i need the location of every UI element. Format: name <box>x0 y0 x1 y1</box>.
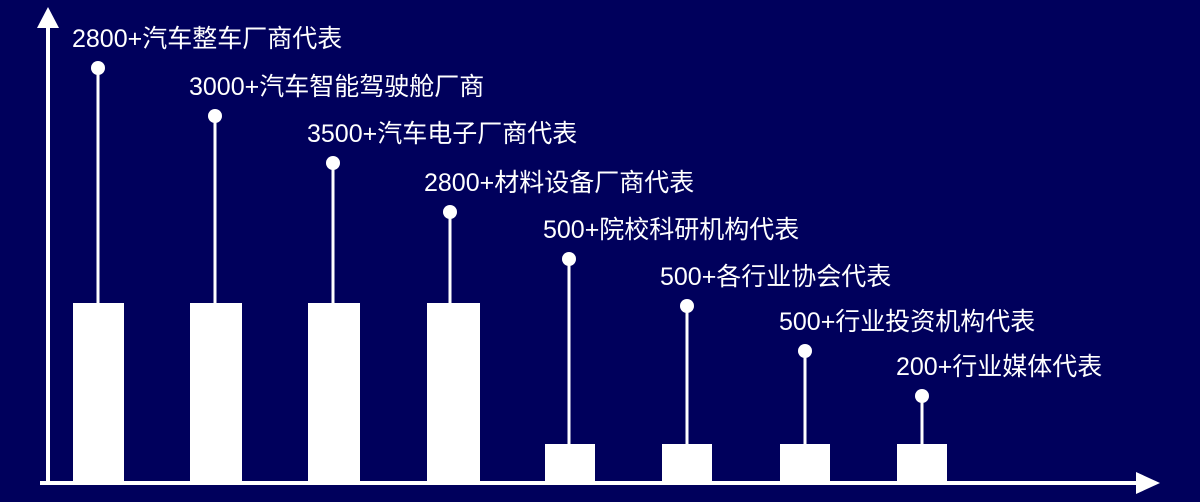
data-label-2: 3000+汽车智能驾驶舱厂商 <box>189 74 484 100</box>
data-label-7: 500+行业投资机构代表 <box>779 309 1035 335</box>
data-label-4: 2800+材料设备厂商代表 <box>424 170 694 196</box>
data-labels-layer: 2800+汽车整车厂商代表 3000+汽车智能驾驶舱厂商 3500+汽车电子厂商… <box>0 0 1200 502</box>
data-label-6: 500+各行业协会代表 <box>660 264 891 290</box>
data-label-1: 2800+汽车整车厂商代表 <box>72 26 342 52</box>
data-label-3: 3500+汽车电子厂商代表 <box>307 121 577 147</box>
data-label-5: 500+院校科研机构代表 <box>543 217 799 243</box>
attendee-composition-chart: 2800+汽车整车厂商代表 3000+汽车智能驾驶舱厂商 3500+汽车电子厂商… <box>0 0 1200 502</box>
data-label-8: 200+行业媒体代表 <box>896 354 1102 380</box>
